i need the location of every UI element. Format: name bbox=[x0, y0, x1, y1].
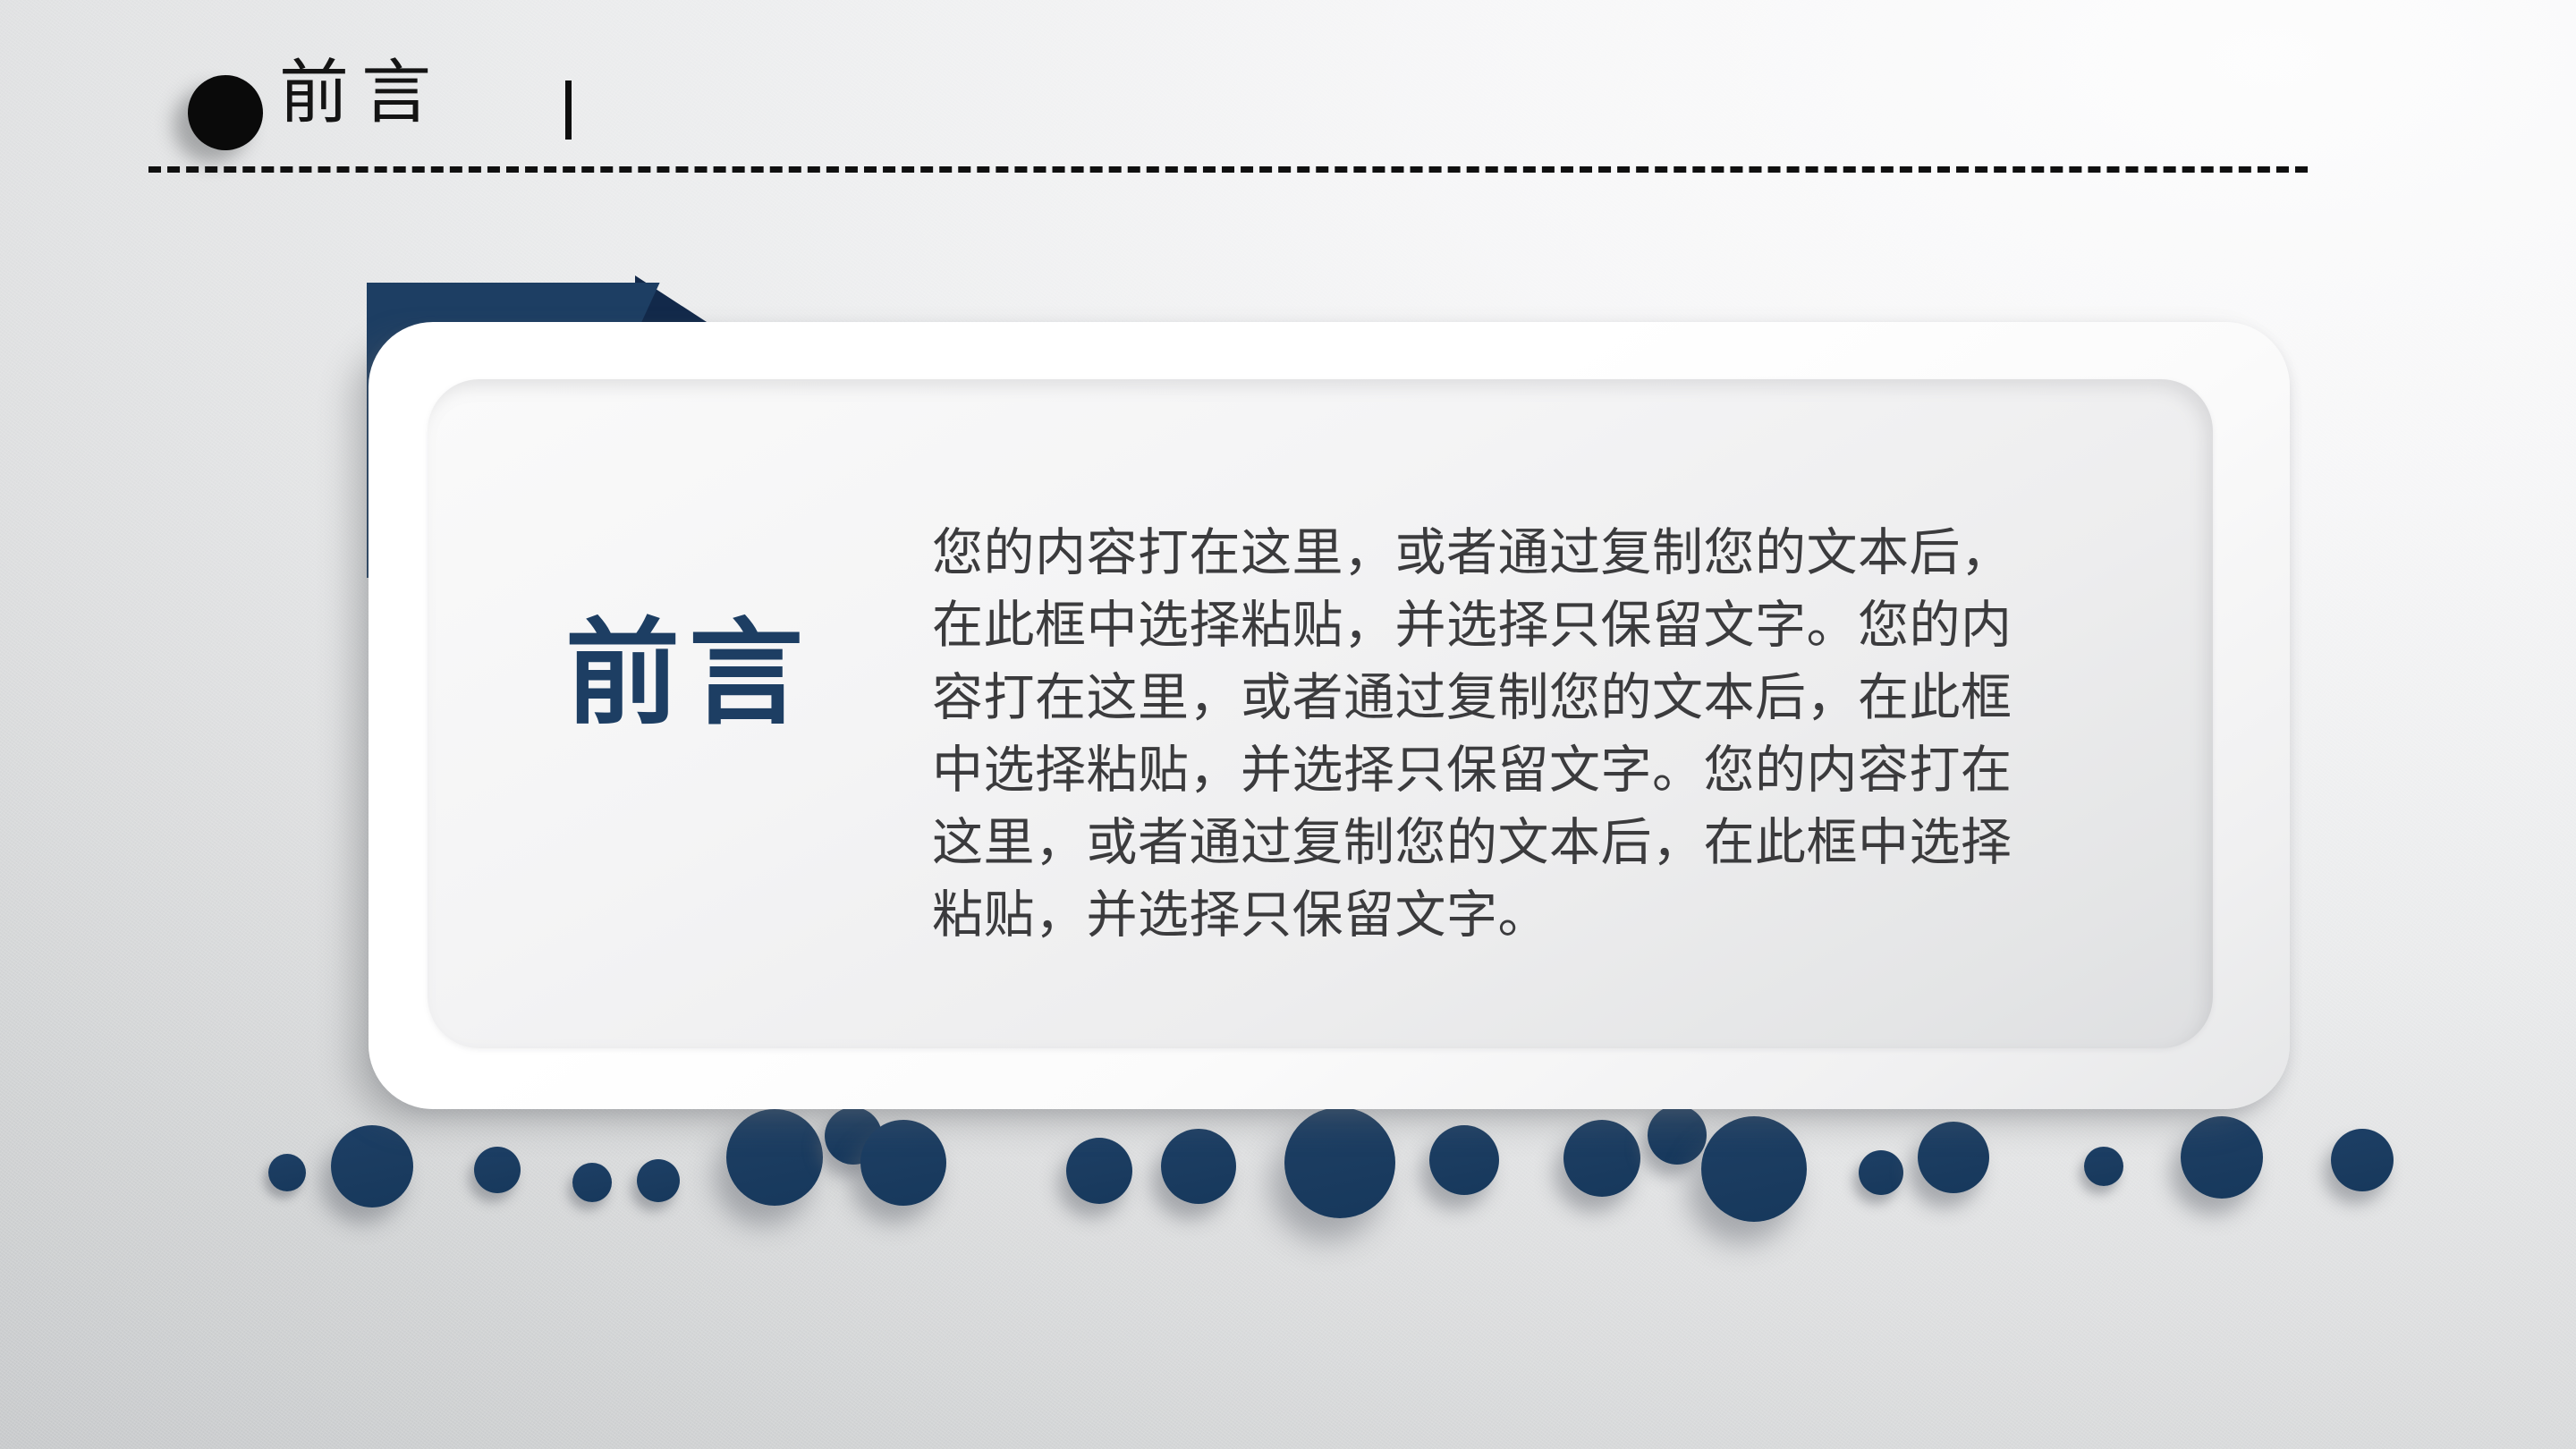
decorative-dot bbox=[1701, 1116, 1807, 1222]
slide-canvas: 前言 前言 您的内容打在这里，或者通过复制您的文本后，在此框中选择粘贴，并选择只… bbox=[0, 0, 2576, 1449]
decorative-dot bbox=[474, 1147, 521, 1193]
decorative-dot bbox=[331, 1125, 413, 1207]
decorative-dot bbox=[1161, 1129, 1236, 1204]
vertical-bar-divider-icon bbox=[565, 80, 572, 140]
decorative-dot bbox=[1648, 1106, 1707, 1165]
card-body-text: 您的内容打在这里，或者通过复制您的文本后，在此框中选择粘贴，并选择只保留文字。您… bbox=[932, 517, 2061, 952]
filled-circle-bullet-icon bbox=[188, 75, 263, 150]
decorative-dot bbox=[1859, 1150, 1903, 1195]
decorative-dot bbox=[2181, 1116, 2263, 1199]
decorative-dot bbox=[572, 1163, 612, 1202]
card-title: 前言 bbox=[501, 617, 877, 732]
decorative-dot bbox=[2331, 1129, 2394, 1191]
decorative-dot bbox=[268, 1154, 306, 1191]
decorative-dot bbox=[2084, 1147, 2123, 1186]
decorative-dot bbox=[1918, 1122, 1989, 1193]
decorative-dot bbox=[1066, 1138, 1132, 1204]
decorative-dot bbox=[860, 1120, 946, 1206]
decorative-dot bbox=[1284, 1107, 1395, 1218]
decorative-dot bbox=[1429, 1125, 1499, 1195]
page-title: 前言 bbox=[279, 57, 444, 127]
decorative-dot bbox=[637, 1159, 680, 1202]
header-dashed-rule bbox=[148, 166, 2308, 173]
decorative-dot bbox=[726, 1109, 823, 1206]
decorative-dot bbox=[825, 1107, 882, 1165]
decorative-dot bbox=[1563, 1120, 1640, 1197]
